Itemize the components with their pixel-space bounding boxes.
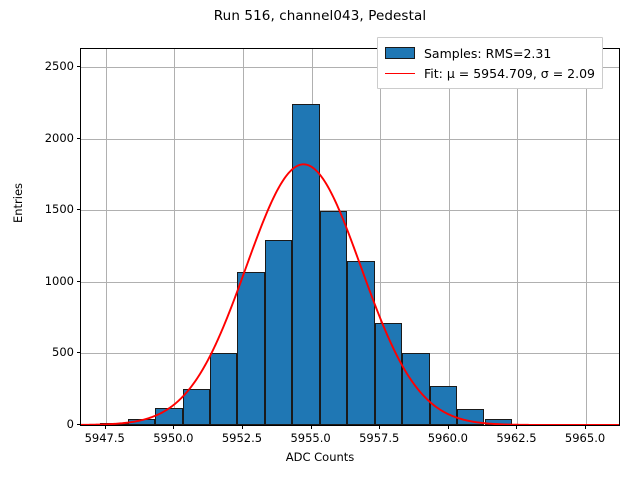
x-tick-mark-1 (173, 425, 174, 429)
y-tick-label-4: 2000 (45, 131, 74, 145)
y-tick-label-3: 1500 (45, 202, 74, 216)
x-tick-mark-4 (379, 425, 380, 429)
x-tick-label-5: 5960.0 (428, 431, 468, 445)
x-tick-mark-0 (105, 425, 106, 429)
plot-inner (81, 49, 619, 425)
x-tick-label-4: 5957.5 (359, 431, 399, 445)
legend: Samples: RMS=2.31 Fit: μ = 5954.709, σ =… (377, 37, 603, 89)
legend-item-fit: Fit: μ = 5954.709, σ = 2.09 (385, 63, 595, 83)
page-title: Run 516, channel043, Pedestal (0, 8, 640, 24)
y-tick-mark-4 (77, 138, 81, 139)
x-axis-label: ADC Counts (0, 450, 640, 464)
x-tick-label-1: 5950.0 (153, 431, 193, 445)
x-tick-label-3: 5955.0 (290, 431, 330, 445)
x-tick-mark-6 (516, 425, 517, 429)
x-tick-label-6: 5962.5 (496, 431, 536, 445)
y-tick-label-1: 500 (52, 345, 74, 359)
legend-line-icon (385, 73, 415, 74)
y-tick-label-5: 2500 (45, 59, 74, 73)
legend-patch-icon (385, 47, 415, 59)
y-tick-mark-0 (77, 424, 81, 425)
x-tick-mark-5 (448, 425, 449, 429)
y-tick-mark-2 (77, 281, 81, 282)
x-tick-label-0: 5947.5 (85, 431, 125, 445)
y-tick-mark-3 (77, 209, 81, 210)
legend-label-fit: Fit: μ = 5954.709, σ = 2.09 (424, 66, 595, 81)
histogram-figure: Run 516, channel043, Pedestal 5947.55950… (0, 0, 640, 480)
plot-area (80, 48, 620, 426)
y-tick-mark-5 (77, 66, 81, 67)
x-tick-mark-7 (585, 425, 586, 429)
x-tick-mark-3 (311, 425, 312, 429)
y-axis-label: Entries (11, 113, 25, 293)
legend-label-samples: Samples: RMS=2.31 (424, 46, 551, 61)
x-tick-label-7: 5965.0 (565, 431, 605, 445)
y-tick-mark-1 (77, 352, 81, 353)
x-tick-label-2: 5952.5 (222, 431, 262, 445)
gaussian-fit-curve (81, 49, 619, 425)
y-tick-label-2: 1000 (45, 274, 74, 288)
y-tick-label-0: 0 (67, 417, 74, 431)
x-tick-mark-2 (242, 425, 243, 429)
legend-item-samples: Samples: RMS=2.31 (385, 43, 595, 63)
